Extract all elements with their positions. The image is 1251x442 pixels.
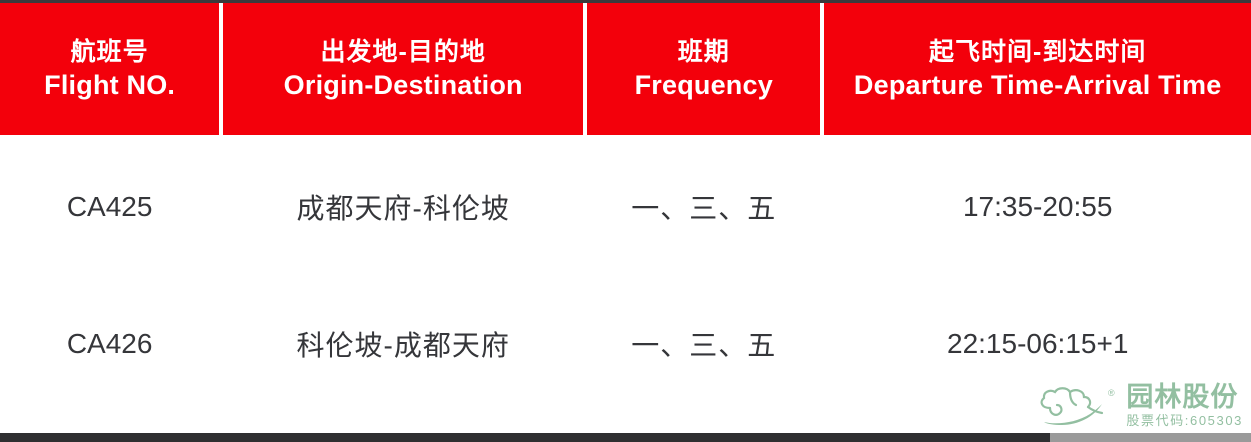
table-header-row: 航班号 Flight NO. 出发地-目的地 Origin-Destinatio… [0, 3, 1251, 135]
watermark-stock-code: 股票代码:605303 [1126, 414, 1243, 428]
bottom-bar-light-segment [1050, 433, 1251, 442]
column-header-flight-no: 航班号 Flight NO. [0, 3, 219, 135]
column-header-frequency-cn: 班期 [678, 38, 730, 66]
watermark-company-name: 园林股份 [1126, 383, 1243, 411]
cell-departure-arrival-time: 17:35-20:55 [824, 191, 1251, 223]
tree-cloud-logo-icon: ® [1032, 384, 1118, 428]
flight-schedule-screenshot: 航班号 Flight NO. 出发地-目的地 Origin-Destinatio… [0, 0, 1251, 442]
column-header-origin-destination: 出发地-目的地 Origin-Destination [223, 3, 583, 135]
column-header-origin-destination-cn: 出发地-目的地 [321, 38, 486, 66]
registered-trademark-icon: ® [1108, 388, 1115, 398]
column-header-departure-arrival-time: 起飞时间-到达时间 Departure Time-Arrival Time [824, 3, 1251, 135]
cell-departure-arrival-time: 22:15-06:15+1 [824, 328, 1251, 360]
cell-frequency: 一、三、五 [587, 187, 820, 227]
column-header-flight-no-cn: 航班号 [71, 38, 149, 66]
cell-origin-destination: 成都天府-科伦坡 [223, 187, 583, 227]
cell-flight-no: CA426 [0, 328, 219, 360]
cell-flight-no: CA425 [0, 191, 219, 223]
bottom-bar [0, 433, 1251, 442]
table-row: CA425 成都天府-科伦坡 一、三、五 17:35-20:55 [0, 173, 1251, 241]
watermark-text-block: 园林股份 股票代码:605303 [1126, 383, 1243, 428]
watermark-logo: ® 园林股份 股票代码:605303 [1032, 383, 1243, 428]
bottom-bar-dark-segment [0, 433, 1050, 442]
cell-origin-destination: 科伦坡-成都天府 [223, 324, 583, 364]
column-header-origin-destination-en: Origin-Destination [284, 70, 523, 100]
column-header-departure-arrival-time-cn: 起飞时间-到达时间 [929, 38, 1146, 66]
column-header-frequency-en: Frequency [635, 70, 773, 100]
column-header-departure-arrival-time-en: Departure Time-Arrival Time [854, 70, 1222, 100]
column-header-flight-no-en: Flight NO. [44, 70, 175, 100]
table-row: CA426 科伦坡-成都天府 一、三、五 22:15-06:15+1 [0, 310, 1251, 378]
cell-frequency: 一、三、五 [587, 324, 820, 364]
column-header-frequency: 班期 Frequency [587, 3, 820, 135]
